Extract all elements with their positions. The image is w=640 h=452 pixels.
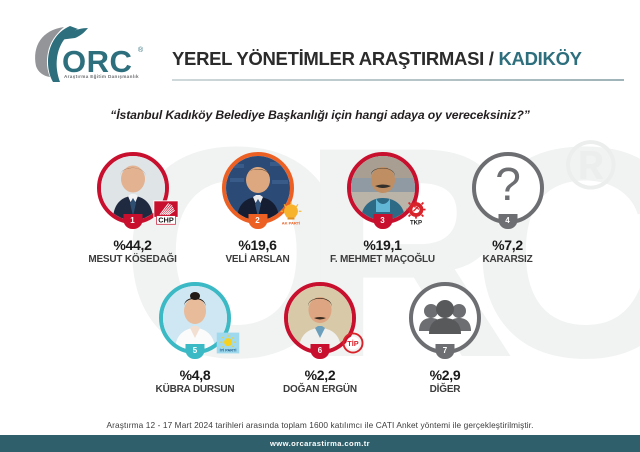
result-name-2: VELİ ARSLAN [225,254,289,265]
candidate-pin-2: 2 AK PARTİ [222,152,294,232]
candidate-pin-6: 6 TİP [284,282,356,362]
rank-badge-6: 6 [311,344,330,359]
website-bar[interactable]: www.orcarastirma.com.tr [0,435,640,452]
result-name-3: F. MEHMET MAÇOĞLU [330,254,435,265]
orc-logo: ORC ® Araştırma Eğitim Danışmanlık [26,22,166,84]
iyiparti-logo-icon: İYİ PARTİ [215,330,241,356]
candidate-pin-3: 3 TKP [347,152,419,232]
tip-logo-icon: TİP [340,330,366,356]
svg-text:TİP: TİP [347,339,359,348]
rank-badge-2: 2 [248,214,267,229]
result-name-1: MESUT KÖSEDAĞI [88,254,176,265]
candidate-pin-4: ? 4 [472,152,544,232]
title-underline-divider [172,79,624,81]
svg-text:?: ? [495,158,521,210]
result-item-2: 2 AK PARTİ %19,6 VELİ ARSLAN [195,152,320,265]
result-item-6: 6 TİP %2,2 DOĞAN ERGÜN [258,282,383,395]
poster-header: ORC ® Araştırma Eğitim Danışmanlık YEREL… [0,0,640,95]
title-accent-text: KADIKÖY [498,48,581,69]
result-percent-2: %19,6 [238,237,276,253]
candidate-pin-5: 5 İYİ PARTİ [159,282,231,362]
result-name-7: DİĞER [430,384,461,395]
results-row-1: 1 CHP %44,2 MESUT KÖSEDAĞI [0,152,640,265]
poll-infographic-poster: O R C ® ORC ® Araştırma Eğitim Danışmanl… [0,0,640,452]
result-name-5: KÜBRA DURSUN [156,384,235,395]
result-item-4: ? 4 %7,2 KARARSIZ [445,152,570,265]
poster-title: YEREL YÖNETİMLER ARAŞTIRMASI / KADIKÖY [172,48,622,70]
svg-text:CHP: CHP [158,216,174,225]
result-percent-5: %4,8 [180,367,211,383]
rank-badge-1: 1 [123,214,142,229]
rank-badge-4: 4 [498,214,517,229]
result-name-6: DOĞAN ERGÜN [283,384,357,395]
akparti-logo-icon: AK PARTİ [278,200,304,226]
poll-question: “İstanbul Kadıköy Belediye Başkanlığı iç… [0,108,640,122]
title-main-text: YEREL YÖNETİMLER ARAŞTIRMASI / [172,48,498,69]
tkp-logo-icon: TKP [403,200,429,226]
svg-text:AK PARTİ: AK PARTİ [281,221,299,226]
results-row-2: 5 İYİ PARTİ %4,8 KÜBRA DURSUN [0,282,640,395]
rank-badge-7: 7 [436,344,455,359]
question-mark-icon: ? [476,156,540,220]
result-percent-6: %2,2 [305,367,336,383]
people-group-icon [413,286,477,350]
svg-text:®: ® [138,46,144,54]
candidate-pin-7: 7 [409,282,481,362]
result-item-7: 7 %2,9 DİĞER [383,282,508,395]
chp-logo-icon: CHP [153,200,179,226]
methodology-footnote: Araştırma 12 - 17 Mart 2024 tarihleri ar… [0,420,640,430]
result-item-3: 3 TKP [320,152,445,265]
result-percent-3: %19,1 [363,237,401,253]
svg-text:İYİ PARTİ: İYİ PARTİ [220,349,237,353]
candidate-pin-1: 1 CHP [97,152,169,232]
result-name-4: KARARSIZ [482,254,532,265]
rank-badge-5: 5 [186,344,205,359]
result-percent-1: %44,2 [113,237,151,253]
svg-text:TKP: TKP [409,220,421,226]
result-percent-7: %2,9 [430,367,461,383]
result-item-1: 1 CHP %44,2 MESUT KÖSEDAĞI [70,152,195,265]
orc-logo-tagline: Araştırma Eğitim Danışmanlık [64,74,139,79]
result-percent-4: %7,2 [492,237,523,253]
result-item-5: 5 İYİ PARTİ %4,8 KÜBRA DURSUN [133,282,258,395]
rank-badge-3: 3 [373,214,392,229]
